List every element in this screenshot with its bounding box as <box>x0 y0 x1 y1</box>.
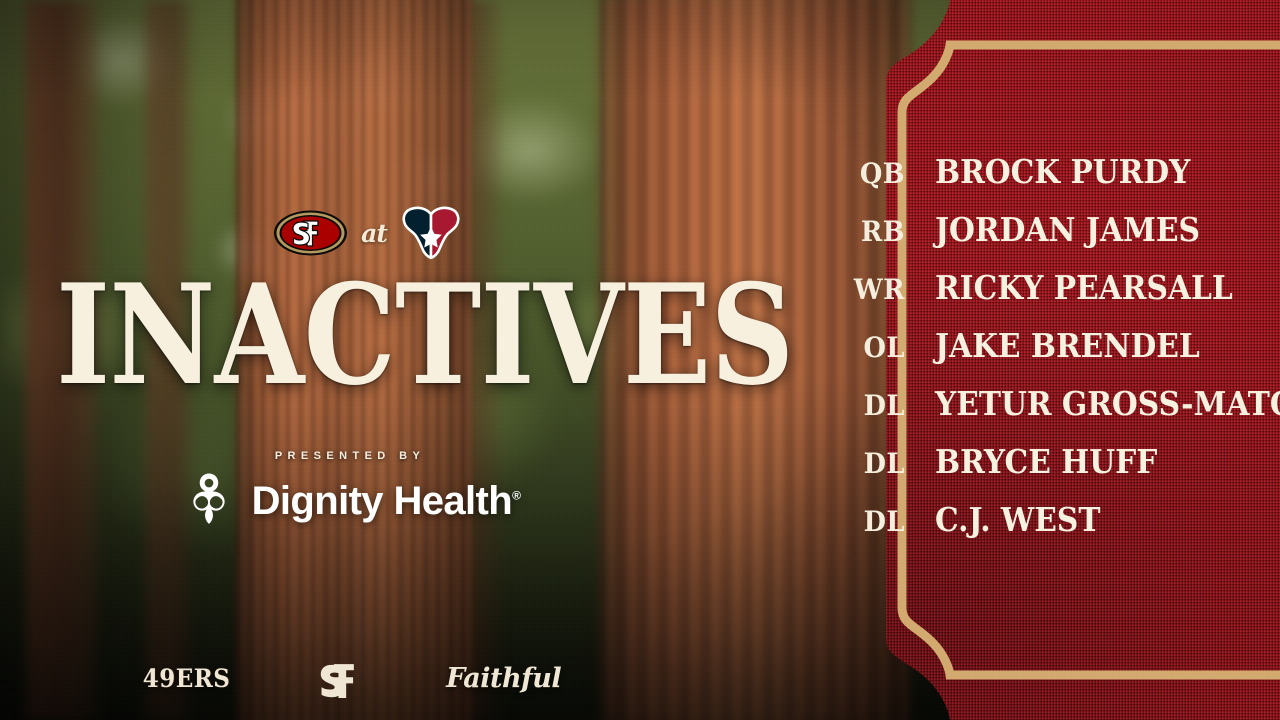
player-position: RB <box>845 215 905 248</box>
table-row: DL BRYCE HUFF <box>840 442 1270 500</box>
player-name: BRYCE HUFF <box>935 442 1157 481</box>
player-name: RICKY PEARSALL <box>935 268 1233 307</box>
page-title: INACTIVES <box>56 272 644 399</box>
inactives-roster: QB BROCK PURDY RB JORDAN JAMES WR RICKY … <box>840 152 1270 558</box>
footer-marks: 49ERS Faithful <box>0 658 700 698</box>
registered-mark: ® <box>512 489 520 503</box>
table-row: RB JORDAN JAMES <box>840 210 1270 268</box>
matchup-separator: at <box>361 219 387 248</box>
player-position: QB <box>845 157 905 190</box>
inactives-graphic: at INACTIVES PRESENTED BY Dignity Health… <box>0 0 1280 720</box>
player-name: BROCK PURDY <box>935 152 1190 191</box>
player-name: JORDAN JAMES <box>935 210 1200 249</box>
table-row: WR RICKY PEARSALL <box>840 268 1270 326</box>
presented-by-label: PRESENTED BY <box>0 450 700 462</box>
player-name: YETUR GROSS-MATOS <box>935 384 1280 423</box>
sponsor-lockup: Dignity Health® <box>0 470 700 533</box>
sponsor-name: Dignity Health® <box>252 479 521 524</box>
table-row: QB BROCK PURDY <box>840 152 1270 210</box>
player-position: WR <box>845 273 905 306</box>
sf-monogram-icon <box>316 658 364 698</box>
inactives-panel: QB BROCK PURDY RB JORDAN JAMES WR RICKY … <box>690 0 1280 720</box>
table-row: DL C.J. WEST <box>840 500 1270 558</box>
player-position: DL <box>845 447 905 480</box>
niners-wordmark-icon: 49ERS <box>143 664 231 693</box>
player-name: JAKE BRENDEL <box>935 326 1200 365</box>
player-position: OL <box>845 331 905 364</box>
player-position: DL <box>845 505 905 538</box>
dignity-health-petal-icon <box>180 470 238 533</box>
table-row: DL YETUR GROSS-MATOS <box>840 384 1270 442</box>
faithful-script-icon: Faithful <box>446 663 561 694</box>
table-row: OL JAKE BRENDEL <box>840 326 1270 384</box>
player-name: C.J. WEST <box>935 500 1100 539</box>
sf-49ers-logo-icon <box>273 209 348 257</box>
player-position: DL <box>845 389 905 422</box>
